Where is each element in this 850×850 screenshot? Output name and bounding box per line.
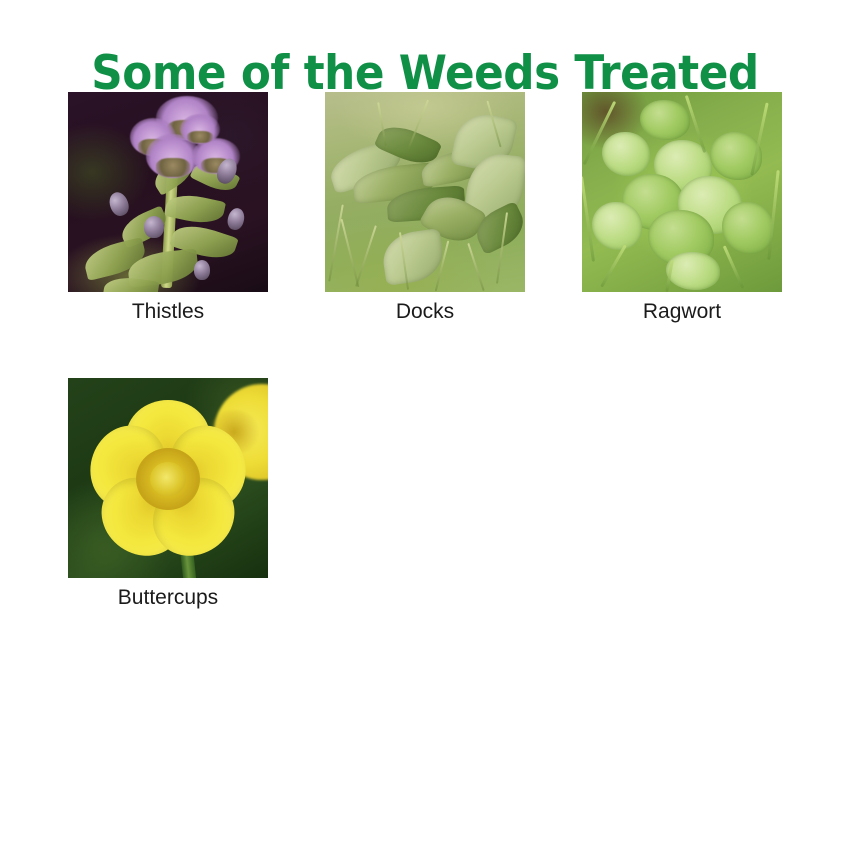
- thistle-bud: [226, 206, 247, 231]
- weeds-gallery: Thistles: [68, 92, 798, 611]
- weed-label-thistles: Thistles: [132, 299, 204, 325]
- ragwort-leaf-lobe: [722, 202, 774, 254]
- weed-label-ragwort: Ragwort: [643, 299, 721, 325]
- grass-blade: [355, 225, 377, 286]
- weed-card-ragwort[interactable]: Ragwort: [582, 92, 782, 325]
- ragwort-photo[interactable]: [582, 92, 782, 292]
- buttercup-center: [136, 448, 200, 510]
- dock-leaf: [380, 228, 446, 286]
- thistle-bud: [194, 260, 210, 280]
- thistle-bud: [144, 216, 164, 238]
- grass-blade: [341, 219, 360, 287]
- weed-card-thistles[interactable]: Thistles: [68, 92, 268, 325]
- weed-label-docks: Docks: [396, 299, 454, 325]
- grass-blade: [600, 244, 627, 287]
- ragwort-leaf-lobe: [592, 202, 642, 250]
- buttercups-photo[interactable]: [68, 378, 268, 578]
- weed-card-docks[interactable]: Docks: [325, 92, 525, 325]
- ragwort-leaf-lobe: [666, 252, 720, 290]
- thistle-flowerhead: [180, 114, 220, 144]
- weed-label-buttercups: Buttercups: [118, 585, 218, 611]
- docks-photo[interactable]: [325, 92, 525, 292]
- weeds-treated-page: Some of the Weeds Treated: [0, 0, 850, 850]
- gallery-row: Buttercups: [68, 378, 798, 611]
- grass-blade: [328, 204, 344, 281]
- gallery-row: Thistles: [68, 92, 798, 325]
- ragwort-leaf-lobe: [640, 100, 690, 140]
- ragwort-leaf-lobe: [602, 132, 650, 176]
- weed-card-buttercups[interactable]: Buttercups: [68, 378, 268, 611]
- thistles-photo[interactable]: [68, 92, 268, 292]
- buttercup-flower: [86, 400, 250, 560]
- thistle-bud: [106, 190, 131, 219]
